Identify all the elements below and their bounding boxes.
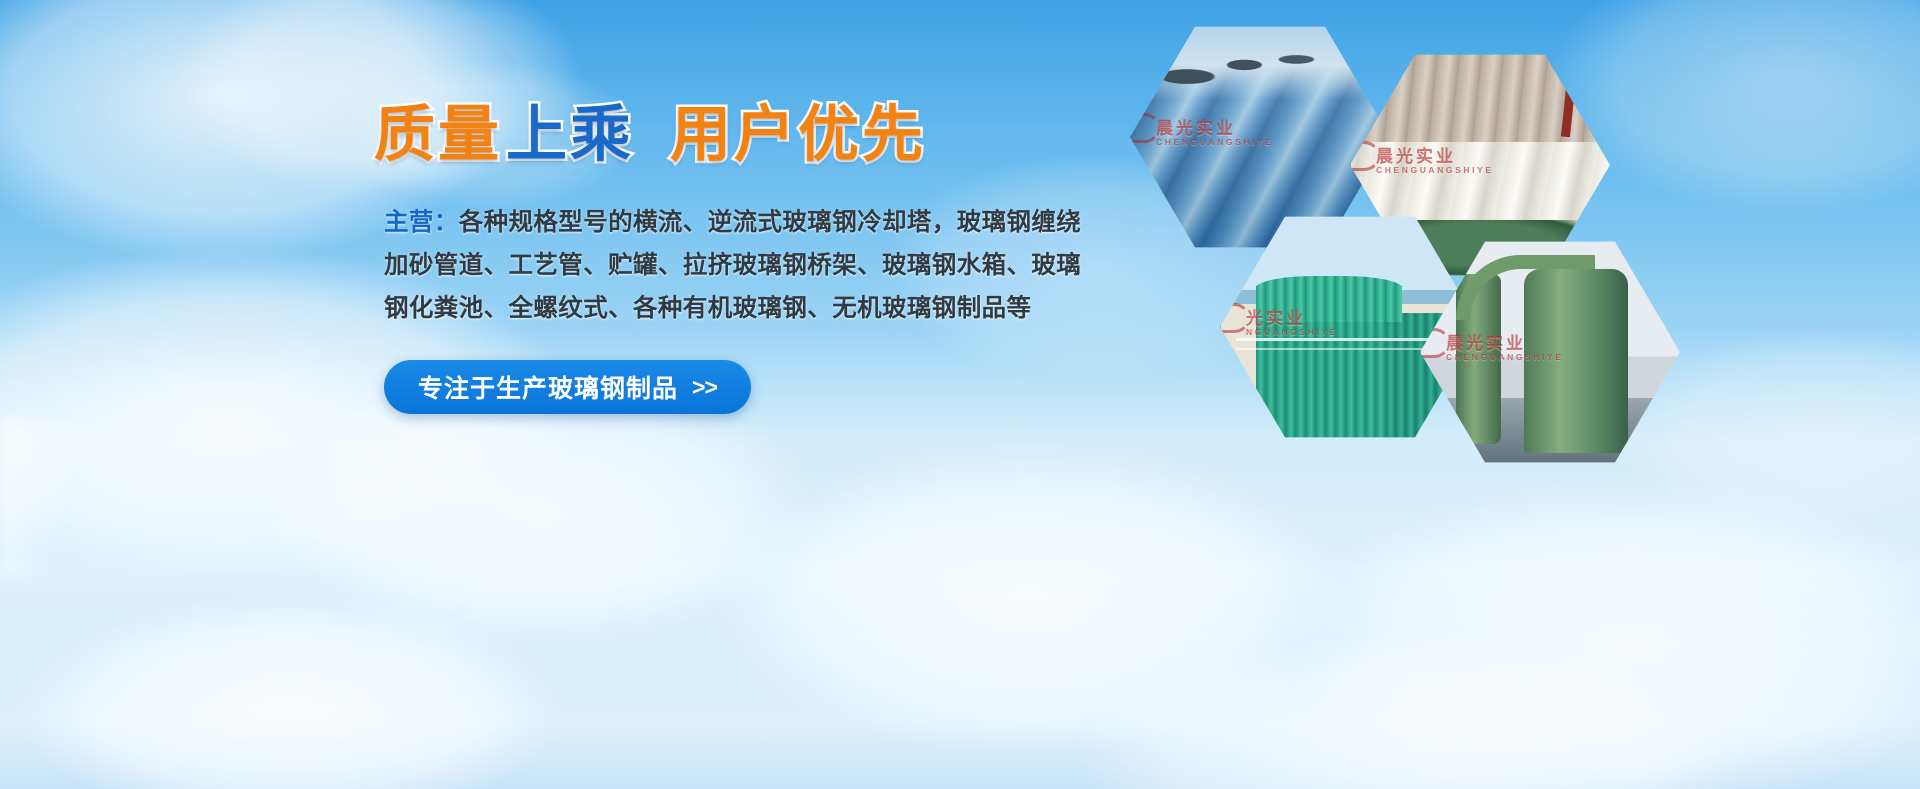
headline-part-3: 用户 [670,104,798,165]
banner-headline: 质量上乘用户优先 [374,104,1144,165]
headline-part-2: 上乘 [506,104,634,165]
banner-description: 主营：各种规格型号的横流、逆流式玻璃钢冷却塔，玻璃钢缠绕加砂管道、工艺管、贮罐、… [384,201,1100,330]
chevron-right-double-icon: >> [692,374,717,401]
product-photo-cluster: 晨光实业 CHENGUANGSHIYE 晨光实业 CHENGUANGSHIYE [1130,12,1750,482]
headline-part-1: 质量 [374,104,502,165]
hero-banner: 质量上乘用户优先 主营：各种规格型号的横流、逆流式玻璃钢冷却塔，玻璃钢缠绕加砂管… [0,0,1920,789]
cta-label: 专注于生产玻璃钢制品 [418,369,678,405]
description-body: 各种规格型号的横流、逆流式玻璃钢冷却塔，玻璃钢缠绕加砂管道、工艺管、贮罐、拉挤玻… [384,209,1081,322]
tower-crown [1256,276,1402,322]
headline-part-4: 优先 [798,104,926,165]
focus-cta-button[interactable]: 专注于生产玻璃钢制品 >> [384,360,751,414]
banner-copy: 质量上乘用户优先 主营：各种规格型号的横流、逆流式玻璃钢冷却塔，玻璃钢缠绕加砂管… [384,104,1144,414]
description-lead: 主营： [384,209,459,236]
scrubber-elbow [1456,255,1595,320]
